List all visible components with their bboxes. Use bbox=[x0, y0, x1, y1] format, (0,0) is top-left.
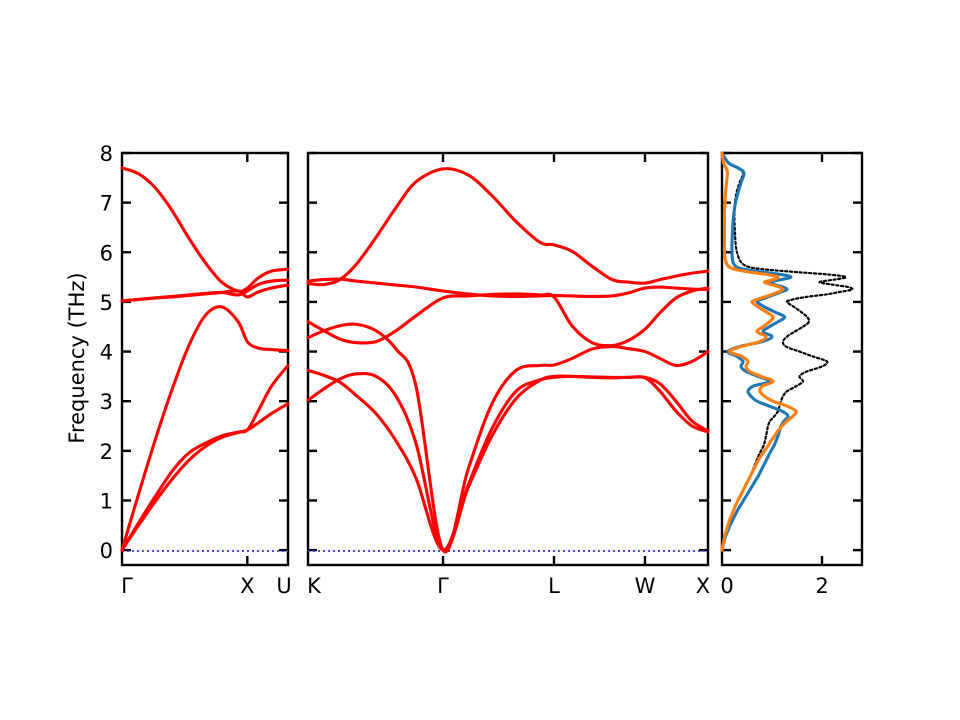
x-tick-label: W bbox=[635, 574, 656, 598]
figure-background bbox=[0, 0, 960, 720]
phonon-figure: Frequency (THz) 012345678 ΓXU KΓLWX 02 bbox=[0, 0, 960, 720]
y-tick-label: 4 bbox=[100, 341, 113, 365]
dos-x-tick-label: 0 bbox=[720, 574, 733, 598]
y-tick-label: 6 bbox=[100, 241, 113, 265]
phonon-plot-svg: Frequency (THz) 012345678 ΓXU KΓLWX 02 bbox=[0, 0, 960, 720]
y-tick-label: 0 bbox=[100, 539, 113, 563]
y-tick-label: 3 bbox=[100, 390, 113, 414]
x-tick-label: Γ bbox=[121, 574, 133, 598]
x-tick-label: X bbox=[696, 574, 710, 598]
y-tick-label: 2 bbox=[100, 440, 113, 464]
x-tick-label: K bbox=[307, 574, 322, 598]
x-tick-label: Γ bbox=[437, 574, 449, 598]
y-tick-label: 8 bbox=[100, 142, 113, 166]
y-tick-labels: 012345678 bbox=[100, 142, 113, 563]
y-tick-label: 5 bbox=[100, 291, 113, 315]
dos-x-tick-label: 2 bbox=[815, 574, 828, 598]
x-tick-label: X bbox=[240, 574, 254, 598]
y-tick-label: 7 bbox=[100, 192, 113, 216]
y-axis-title: Frequency (THz) bbox=[65, 272, 89, 443]
x-tick-label: L bbox=[548, 574, 560, 598]
y-tick-label: 1 bbox=[100, 489, 113, 513]
x-tick-label: U bbox=[276, 574, 291, 598]
